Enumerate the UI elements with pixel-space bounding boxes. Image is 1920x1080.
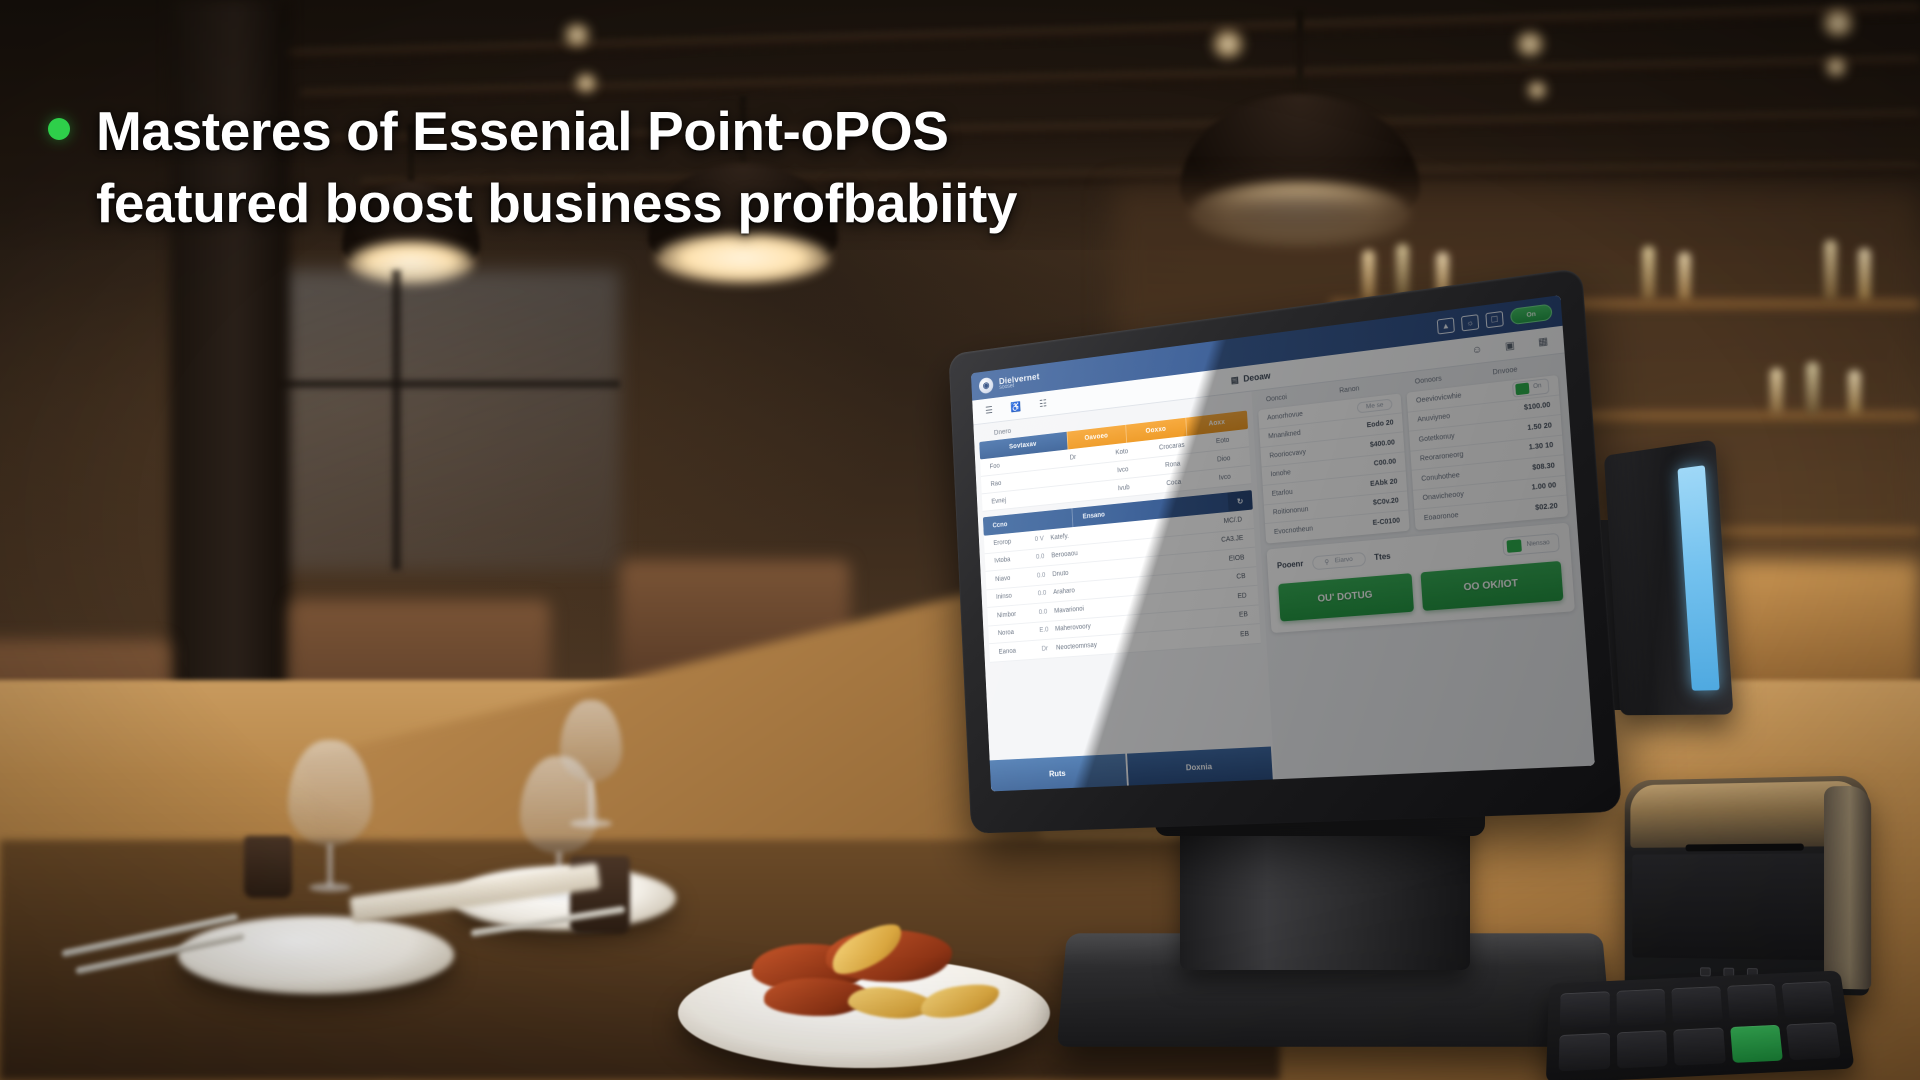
row-label: Anuviyneo bbox=[1417, 413, 1450, 424]
item-name: Niavo bbox=[986, 573, 1030, 583]
cell: Ivub bbox=[1099, 482, 1149, 494]
receipt-printer[interactable] bbox=[1625, 775, 1869, 995]
row-label: Eoaoronoe bbox=[1424, 512, 1459, 522]
item-amount: ED bbox=[1213, 591, 1258, 601]
bottom-tab-2[interactable]: Doxnia bbox=[1127, 746, 1275, 785]
toolbar-center-label: Deoaw bbox=[1243, 371, 1271, 384]
keypad-key[interactable] bbox=[1560, 991, 1610, 1028]
cell: Rona bbox=[1147, 458, 1198, 470]
row-label: Reoraroneorg bbox=[1420, 451, 1464, 463]
row-label: Conuhothee bbox=[1421, 472, 1460, 483]
column-header: Ranon bbox=[1330, 380, 1400, 395]
row-value: C00.00 bbox=[1374, 459, 1397, 468]
row-value: $100.00 bbox=[1524, 402, 1551, 412]
item-name: Noroa bbox=[988, 628, 1032, 638]
item-qty: 0.0 bbox=[1031, 590, 1054, 598]
row-label: Rooriocvavy bbox=[1269, 449, 1306, 460]
search-icon: ⚲ bbox=[1324, 557, 1329, 565]
row-label: Roitiononun bbox=[1273, 506, 1309, 516]
row-label: Aonorhovue bbox=[1267, 411, 1303, 422]
keypad-key[interactable] bbox=[1559, 1032, 1610, 1071]
keypad-key[interactable] bbox=[1672, 986, 1723, 1023]
headline-line-1: Masteres of Essenial Point-oPOS bbox=[96, 100, 949, 162]
column-header: Ooncoi bbox=[1257, 390, 1325, 405]
row-label: Ionohe bbox=[1270, 470, 1291, 479]
row-value: $400.00 bbox=[1370, 439, 1395, 449]
row-value-input[interactable]: Me se bbox=[1357, 398, 1393, 413]
summary-panel: Ooncoi Ranon Oonoors Dnvooe Aonorhovue M… bbox=[1251, 353, 1594, 779]
headline-line-2: featured boost business profbabiity bbox=[96, 168, 1017, 240]
numeric-keypad[interactable] bbox=[1546, 970, 1855, 1080]
order-items-list: Erorop 0 V Katefy. MC/.D Ivtoba 0.0 Bero… bbox=[984, 510, 1261, 663]
keypad-key[interactable] bbox=[1727, 984, 1779, 1021]
item-qty: 0.0 bbox=[1032, 608, 1055, 616]
row-value: Eodo 20 bbox=[1367, 420, 1394, 430]
row-toggle[interactable]: On bbox=[1512, 378, 1550, 398]
signal-icon[interactable]: ▲ bbox=[1437, 317, 1455, 334]
refresh-icon[interactable]: ↻ bbox=[1227, 490, 1252, 512]
toggle-switch-icon bbox=[1515, 382, 1529, 395]
toggle-label: On bbox=[1533, 383, 1542, 390]
app-logo-icon: ◉ bbox=[979, 376, 994, 393]
item-amount: EB bbox=[1215, 630, 1260, 640]
item-amount: CA3.JE bbox=[1210, 534, 1255, 545]
printer-front-panel bbox=[1632, 853, 1842, 960]
row-value: EAbk 20 bbox=[1370, 478, 1398, 488]
printer-side-panel bbox=[1824, 786, 1871, 990]
headline-block: Masteres of Essenial Point-oPOS featured… bbox=[48, 96, 1228, 239]
row-label: Onavicheooy bbox=[1422, 491, 1464, 502]
customer-facing-display[interactable] bbox=[1604, 439, 1734, 715]
keypad-key[interactable] bbox=[1616, 989, 1666, 1026]
column-header: Oonoors bbox=[1406, 371, 1478, 387]
item-name: Ivtoba bbox=[985, 555, 1029, 566]
row-label: Etarlou bbox=[1272, 489, 1293, 498]
receipt-icon: ▤ bbox=[1231, 374, 1240, 386]
printer-paper-slot bbox=[1686, 844, 1803, 852]
item-qty: 0.0 bbox=[1029, 553, 1052, 562]
row-value: $02.20 bbox=[1535, 503, 1558, 512]
summary-table-right: Oeeviovicwhie On Anuviyneo $100.00 bbox=[1407, 375, 1568, 530]
cell: Dioo bbox=[1198, 453, 1250, 465]
keypad-key[interactable] bbox=[1673, 1027, 1725, 1066]
column-header: Dnvooe bbox=[1483, 362, 1557, 378]
item-qty: 0.0 bbox=[1030, 571, 1053, 580]
row-value: $C0v.20 bbox=[1373, 498, 1399, 507]
cell: Coca bbox=[1148, 477, 1199, 489]
item-amount: CB bbox=[1212, 572, 1257, 583]
row-label: Oeeviovicwhie bbox=[1416, 392, 1462, 404]
item-qty: E.0 bbox=[1033, 626, 1056, 634]
cell: Koto bbox=[1097, 446, 1147, 458]
item-name: Nimbor bbox=[988, 610, 1032, 620]
row-value: 1.50 20 bbox=[1527, 422, 1552, 432]
app-body: Dnero Sovtaxav Oavoeo Ooxxo Aoxx Foo Dr bbox=[973, 353, 1594, 791]
grid-icon[interactable]: ☷ bbox=[1036, 396, 1049, 411]
item-name: Eanoa bbox=[989, 646, 1034, 656]
cell: Crocaras bbox=[1146, 440, 1197, 452]
cell bbox=[1051, 490, 1099, 495]
power-led-icon bbox=[1700, 967, 1711, 976]
cell: Dr bbox=[1049, 451, 1098, 463]
keypad-key[interactable] bbox=[1782, 981, 1835, 1018]
toggle-switch-icon bbox=[1506, 539, 1521, 553]
left-spacer bbox=[985, 643, 1273, 761]
cell: Rao bbox=[981, 474, 1050, 488]
tips-label: Ttes bbox=[1374, 552, 1391, 562]
row-value: 1.30 10 bbox=[1529, 442, 1554, 452]
payment-search-field[interactable]: ⚲ Eiarvo bbox=[1311, 551, 1365, 570]
item-qty: 0 V bbox=[1028, 535, 1051, 544]
save-icon[interactable]: ▣ bbox=[1502, 338, 1518, 354]
customer-display-screen bbox=[1677, 466, 1719, 691]
row-label: Mnanikned bbox=[1268, 430, 1301, 440]
page-title: Masteres of Essenial Point-oPOS featured… bbox=[96, 96, 1017, 239]
cell: Eoto bbox=[1197, 434, 1249, 447]
status-badge[interactable]: On bbox=[1510, 304, 1553, 326]
row-value: 1.00 00 bbox=[1531, 482, 1556, 492]
payment-label: Pooenr bbox=[1277, 559, 1304, 570]
spacer bbox=[1399, 547, 1493, 555]
cell: Ivco bbox=[1098, 464, 1148, 476]
pos-screen[interactable]: ◉ Dielvernet sooset ▲ ☼ ☐ On ☰ ♿ ☷ bbox=[971, 295, 1595, 791]
keypad-key[interactable] bbox=[1617, 1030, 1668, 1069]
item-name: Erorop bbox=[984, 537, 1028, 548]
tag-icon[interactable]: ♿ bbox=[1009, 400, 1022, 414]
secondary-action-button[interactable]: OO OK/IOT bbox=[1420, 560, 1563, 610]
primary-action-button[interactable]: OU' DOTUG bbox=[1278, 573, 1413, 621]
card-icon[interactable]: ▦ bbox=[1535, 334, 1552, 350]
right-spacer bbox=[1272, 617, 1586, 771]
cell bbox=[1050, 472, 1098, 477]
payment-field-value: Eiarvo bbox=[1335, 556, 1353, 565]
summary-table-left: Aonorhovue Me se Mnanikned Eodo 20 Roori… bbox=[1258, 393, 1409, 543]
cell: Foo bbox=[980, 457, 1049, 471]
keypad-key[interactable] bbox=[1786, 1022, 1840, 1061]
summary-tables: Aonorhovue Me se Mnanikned Eodo 20 Roori… bbox=[1258, 375, 1568, 543]
order-panel: Dnero Sovtaxav Oavoeo Ooxxo Aoxx Foo Dr bbox=[973, 392, 1274, 792]
menu-icon[interactable]: ☰ bbox=[982, 403, 995, 417]
cell: Ivco bbox=[1199, 471, 1251, 483]
cell: Evnej bbox=[982, 492, 1051, 506]
row-label: Gotetkonuy bbox=[1418, 433, 1454, 444]
row-value: E-C0100 bbox=[1372, 518, 1400, 528]
item-amount: EIOB bbox=[1211, 553, 1256, 564]
bottom-tab-1[interactable]: Ruts bbox=[990, 754, 1129, 792]
item-qty: Dr bbox=[1034, 645, 1057, 653]
user-icon[interactable]: ☺ bbox=[1469, 342, 1485, 358]
item-name: Ininso bbox=[987, 591, 1031, 601]
bullet-point-icon bbox=[48, 118, 70, 140]
row-value: $08.30 bbox=[1532, 462, 1555, 471]
toggle-label: Niensao bbox=[1526, 539, 1550, 547]
item-amount: MC/.D bbox=[1209, 515, 1254, 526]
bell-icon[interactable]: ☼ bbox=[1461, 314, 1479, 331]
keypad-enter-key[interactable] bbox=[1730, 1024, 1783, 1063]
pos-monitor-bezel: ◉ Dielvernet sooset ▲ ☼ ☐ On ☰ ♿ ☷ bbox=[948, 267, 1622, 833]
item-amount: EB bbox=[1214, 611, 1259, 621]
message-icon[interactable]: ☐ bbox=[1485, 310, 1503, 327]
payment-toggle[interactable]: Niensao bbox=[1502, 532, 1560, 555]
row-label: Evocnotheun bbox=[1274, 526, 1313, 536]
